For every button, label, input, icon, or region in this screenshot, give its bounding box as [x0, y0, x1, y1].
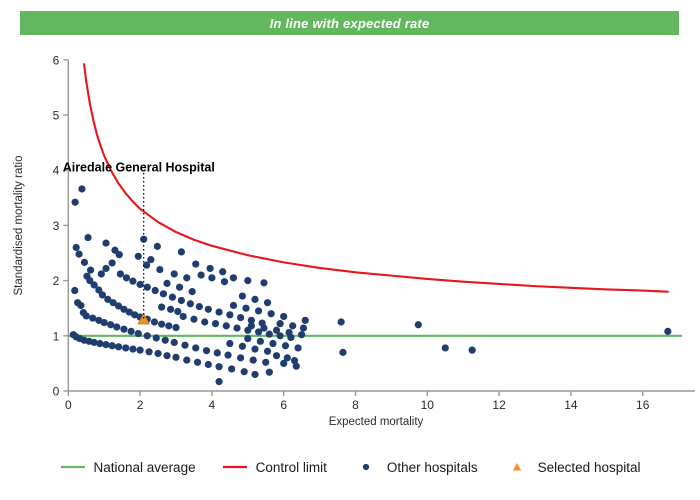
hospital-point[interactable] [144, 284, 151, 291]
hospital-point[interactable] [154, 350, 161, 357]
x-tick-label: 2 [137, 398, 144, 412]
hospital-point[interactable] [169, 294, 176, 301]
line-icon [222, 461, 248, 473]
hospital-point[interactable] [266, 331, 273, 338]
legend-item-other-hospitals[interactable]: Other hospitals [353, 460, 478, 475]
legend-label-national-average: National average [94, 460, 196, 475]
hospital-point[interactable] [172, 354, 179, 361]
hospital-point[interactable] [294, 344, 301, 351]
hospital-point[interactable] [219, 268, 226, 275]
y-tick-labels: 0123456 [53, 53, 60, 398]
hospital-point[interactable] [260, 279, 267, 286]
hospital-point[interactable] [71, 287, 78, 294]
hospital-point[interactable] [302, 317, 309, 324]
hospital-point[interactable] [268, 310, 275, 317]
hospital-point[interactable] [165, 322, 172, 329]
hospital-point[interactable] [192, 260, 199, 267]
hospital-point[interactable] [108, 259, 115, 266]
y-tick-label: 5 [53, 109, 60, 123]
hospital-point[interactable] [469, 347, 476, 354]
hospital-point[interactable] [264, 299, 271, 306]
hospital-point[interactable] [664, 328, 671, 335]
hospital-point[interactable] [101, 319, 108, 326]
hospital-point[interactable] [257, 338, 264, 345]
y-axis-title: Standardised mortality ratio [13, 156, 25, 296]
hospital-point[interactable] [415, 321, 422, 328]
hospital-point[interactable] [122, 344, 129, 351]
hospital-point[interactable] [178, 297, 185, 304]
hospital-point[interactable] [280, 360, 287, 367]
hospital-point[interactable] [239, 292, 246, 299]
hospital-point[interactable] [228, 365, 235, 372]
status-banner: In line with expected rate [20, 11, 679, 35]
hospital-point[interactable] [190, 316, 197, 323]
hospital-point[interactable] [233, 324, 240, 331]
hospital-point[interactable] [282, 342, 289, 349]
annotation-group: Airedale General Hospital [63, 160, 215, 319]
hospital-point[interactable] [251, 371, 258, 378]
hospital-point[interactable] [102, 239, 109, 246]
hospital-point[interactable] [230, 302, 237, 309]
hospital-point[interactable] [289, 322, 296, 329]
hospital-point[interactable] [338, 318, 345, 325]
hospital-point[interactable] [237, 354, 244, 361]
hospital-point[interactable] [212, 320, 219, 327]
hospital-point[interactable] [75, 251, 82, 258]
hospital-point[interactable] [123, 274, 130, 281]
hospital-point[interactable] [135, 253, 142, 260]
hospital-point[interactable] [147, 256, 154, 263]
axes-group [63, 60, 695, 396]
hospital-point[interactable] [152, 287, 159, 294]
hospital-point[interactable] [113, 323, 120, 330]
hospital-point[interactable] [339, 349, 346, 356]
y-tick-label: 1 [53, 329, 60, 343]
triangle-marker-icon [504, 461, 530, 473]
x-tick-label: 4 [209, 398, 216, 412]
chart-plot-area: 0123456 0246810121416 Airedale General H… [0, 40, 700, 440]
hospital-point[interactable] [293, 363, 300, 370]
hospital-point[interactable] [128, 328, 135, 335]
hospital-point[interactable] [250, 356, 257, 363]
hospital-point[interactable] [129, 278, 136, 285]
hospital-point[interactable] [205, 306, 212, 313]
hospital-point[interactable] [273, 327, 280, 334]
y-tick-label: 2 [53, 274, 60, 288]
hospital-point[interactable] [151, 318, 158, 325]
hospital-point[interactable] [171, 270, 178, 277]
hospital-point[interactable] [183, 356, 190, 363]
hospital-point[interactable] [214, 349, 221, 356]
hospital-point[interactable] [300, 324, 307, 331]
other-hospitals-points[interactable] [70, 185, 672, 385]
chart-legend: National average Control limit Other hos… [0, 452, 700, 482]
hospital-point[interactable] [172, 324, 179, 331]
x-tick-label: 16 [636, 398, 650, 412]
x-axis-title: Expected mortality [329, 416, 424, 428]
legend-item-national-average[interactable]: National average [60, 460, 196, 475]
hospital-point[interactable] [180, 313, 187, 320]
hospital-point[interactable] [83, 312, 90, 319]
x-tick-label: 0 [65, 398, 72, 412]
hospital-point[interactable] [273, 352, 280, 359]
hospital-point[interactable] [264, 348, 271, 355]
hospital-point[interactable] [120, 326, 127, 333]
hospital-point[interactable] [129, 345, 136, 352]
hospital-point[interactable] [174, 308, 181, 315]
hospital-point[interactable] [73, 244, 80, 251]
hospital-point[interactable] [223, 322, 230, 329]
hospital-point[interactable] [215, 308, 222, 315]
hospital-point[interactable] [137, 281, 144, 288]
hospital-point[interactable] [108, 342, 115, 349]
hospital-point[interactable] [442, 344, 449, 351]
hospital-point[interactable] [135, 330, 142, 337]
hospital-point[interactable] [242, 305, 249, 312]
hospital-point[interactable] [285, 329, 292, 336]
y-tick-label: 4 [53, 164, 60, 178]
hospital-point[interactable] [163, 352, 170, 359]
hospital-point[interactable] [115, 343, 122, 350]
x-tick-labels: 0246810121416 [65, 398, 650, 412]
hospital-point[interactable] [171, 339, 178, 346]
hospital-point[interactable] [145, 348, 152, 355]
hospital-point[interactable] [89, 315, 96, 322]
hospital-point[interactable] [241, 368, 248, 375]
hospital-point[interactable] [277, 320, 284, 327]
hospital-point[interactable] [153, 334, 160, 341]
hospital-point[interactable] [116, 251, 123, 258]
hospital-point[interactable] [269, 340, 276, 347]
legend-item-control-limit[interactable]: Control limit [222, 460, 327, 475]
hospital-point[interactable] [203, 347, 210, 354]
hospital-point[interactable] [239, 343, 246, 350]
hospital-point[interactable] [226, 311, 233, 318]
hospital-point[interactable] [189, 288, 196, 295]
hospital-point[interactable] [117, 270, 124, 277]
funnel-plot-page: In line with expected rate 0123456 02468… [0, 0, 700, 500]
hospital-point[interactable] [198, 271, 205, 278]
hospital-point[interactable] [226, 340, 233, 347]
hospital-point[interactable] [96, 340, 103, 347]
y-tick-label: 6 [53, 53, 60, 67]
hospital-point[interactable] [158, 303, 165, 310]
status-banner-label: In line with expected rate [270, 16, 430, 31]
control-limit-line [84, 64, 668, 291]
hospital-point[interactable] [221, 278, 228, 285]
hospital-point[interactable] [154, 243, 161, 250]
x-tick-label: 12 [492, 398, 506, 412]
hospital-point[interactable] [201, 318, 208, 325]
hospital-point[interactable] [102, 341, 109, 348]
hospital-point[interactable] [260, 324, 267, 331]
hospital-point[interactable] [224, 352, 231, 359]
hospital-point[interactable] [158, 321, 165, 328]
hospital-point[interactable] [160, 290, 167, 297]
circle-marker-icon [353, 461, 379, 473]
x-tick-label: 10 [421, 398, 435, 412]
y-tick-label: 3 [53, 219, 60, 233]
hospital-point[interactable] [98, 270, 105, 277]
hospital-point[interactable] [78, 185, 85, 192]
hospital-point[interactable] [102, 265, 109, 272]
hospital-point[interactable] [77, 302, 84, 309]
hospital-point[interactable] [280, 313, 287, 320]
hospital-point[interactable] [187, 300, 194, 307]
hospital-point[interactable] [262, 359, 269, 366]
hospital-point[interactable] [163, 280, 170, 287]
hospital-point[interactable] [205, 361, 212, 368]
hospital-point[interactable] [84, 234, 91, 241]
hospital-point[interactable] [208, 274, 215, 281]
selected-hospital-annotation-label: Airedale General Hospital [63, 160, 215, 174]
hospital-point[interactable] [215, 378, 222, 385]
legend-label-other-hospitals: Other hospitals [387, 460, 478, 475]
hospital-point[interactable] [251, 296, 258, 303]
x-tick-label: 8 [352, 398, 359, 412]
hospital-point[interactable] [144, 332, 151, 339]
hospital-point[interactable] [183, 274, 190, 281]
legend-item-selected-hospital[interactable]: Selected hospital [504, 460, 641, 475]
hospital-point[interactable] [176, 284, 183, 291]
line-icon [60, 461, 86, 473]
hospital-point[interactable] [196, 303, 203, 310]
hospital-point[interactable] [207, 265, 214, 272]
legend-label-selected-hospital: Selected hospital [538, 460, 641, 475]
hospital-point[interactable] [298, 331, 305, 338]
hospital-point[interactable] [248, 322, 255, 329]
legend-label-control-limit: Control limit [256, 460, 327, 475]
y-tick-label: 0 [53, 385, 60, 399]
hospital-point[interactable] [156, 266, 163, 273]
hospital-point[interactable] [137, 347, 144, 354]
hospital-point[interactable] [181, 342, 188, 349]
hospital-point[interactable] [167, 306, 174, 313]
hospital-point[interactable] [244, 335, 251, 342]
hospital-point[interactable] [266, 369, 273, 376]
hospital-point[interactable] [72, 199, 79, 206]
hospital-point[interactable] [215, 363, 222, 370]
funnel-plot-svg: 0123456 0246810121416 Airedale General H… [0, 40, 700, 440]
x-tick-label: 14 [564, 398, 578, 412]
hospital-point[interactable] [237, 314, 244, 321]
hospital-point[interactable] [230, 274, 237, 281]
hospital-point[interactable] [87, 267, 94, 274]
hospital-point[interactable] [194, 359, 201, 366]
hospital-point[interactable] [178, 248, 185, 255]
x-tick-label: 6 [280, 398, 287, 412]
hospital-point[interactable] [251, 345, 258, 352]
hospital-point[interactable] [255, 307, 262, 314]
hospital-point[interactable] [81, 259, 88, 266]
hospital-point[interactable] [162, 337, 169, 344]
hospital-point[interactable] [192, 344, 199, 351]
hospital-point[interactable] [244, 277, 251, 284]
